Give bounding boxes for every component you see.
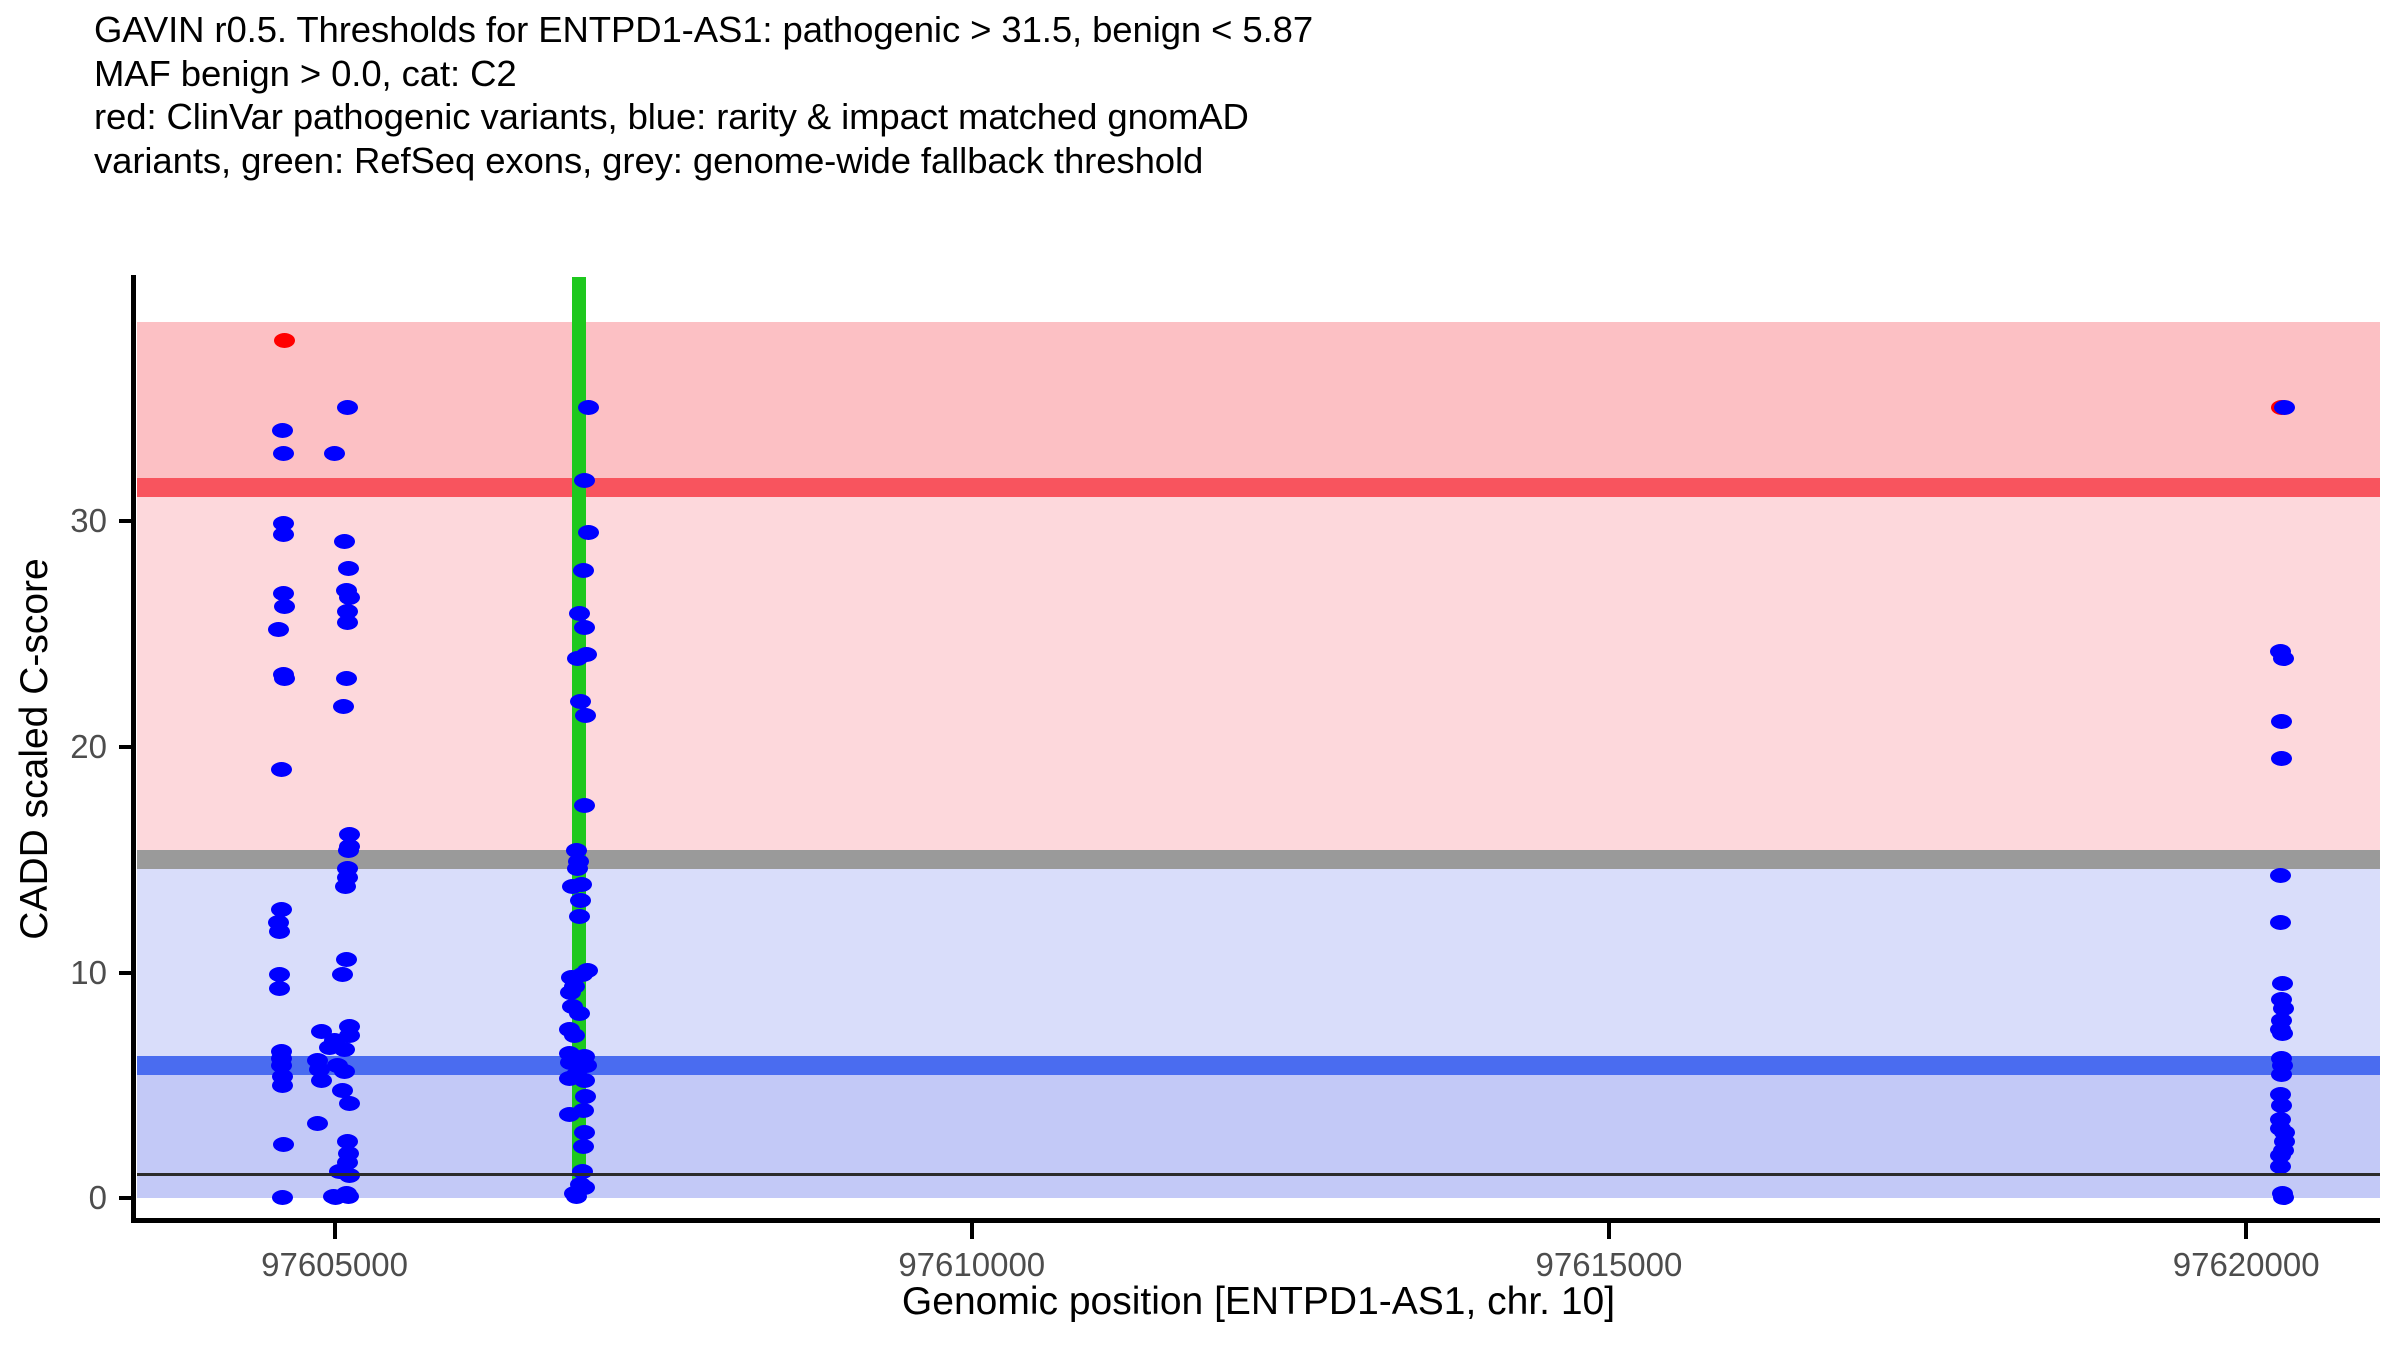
gnomad-variant-point	[569, 606, 590, 621]
gnomad-variant-point	[569, 1006, 590, 1021]
gnomad-variant-point	[576, 647, 597, 662]
x-tick-label: 97615000	[1459, 1248, 1759, 1281]
gnomad-variant-point	[268, 622, 289, 637]
x-tick-mark	[1607, 1223, 1611, 1239]
gnomad-variant-point	[2271, 1067, 2292, 1082]
gnomad-variant-point	[338, 1189, 359, 1204]
title-line-2: MAF benign > 0.0, cat: C2	[94, 52, 2344, 96]
x-tick-label: 97605000	[185, 1248, 485, 1281]
gnomad-variant-point	[569, 909, 590, 924]
gnomad-variant-point	[2273, 1190, 2294, 1205]
gnomad-variant-point	[2272, 1026, 2293, 1041]
plot-title: GAVIN r0.5. Thresholds for ENTPD1-AS1: p…	[94, 8, 2344, 182]
threshold-line-benign	[137, 1056, 2380, 1075]
x-axis-title: Genomic position [ENTPD1-AS1, chr. 10]	[137, 1279, 2380, 1325]
pathogenic-band	[137, 322, 2380, 487]
gnomad-variant-point	[2271, 751, 2292, 766]
gnomad-variant-point	[334, 534, 355, 549]
benign-upper-band	[137, 860, 2380, 1066]
intermediate-band	[137, 487, 2380, 860]
gnomad-variant-point	[272, 1078, 293, 1093]
y-axis-title: CADD scaled C-score	[12, 277, 58, 1221]
gnomad-variant-point	[338, 561, 359, 576]
gnomad-variant-point	[573, 1139, 594, 1154]
title-line-4: variants, green: RefSeq exons, grey: gen…	[94, 139, 2344, 183]
gnomad-variant-point	[567, 861, 588, 876]
x-axis-line	[131, 1218, 2380, 1223]
gnomad-variant-point	[273, 446, 294, 461]
panel-bottom-rule	[137, 1173, 2380, 1176]
gnomad-variant-point	[2270, 868, 2291, 883]
gnomad-variant-point	[272, 423, 293, 438]
gnomad-variant-point	[336, 952, 357, 967]
gnomad-variant-point	[272, 1190, 293, 1205]
y-axis-line	[131, 275, 136, 1223]
gnomad-variant-point	[2273, 651, 2294, 666]
x-tick-mark	[333, 1223, 337, 1239]
y-tick-mark	[119, 519, 135, 523]
threshold-line-pathogenic	[137, 478, 2380, 497]
x-tick-label: 97620000	[2096, 1248, 2396, 1281]
benign-lower-band	[137, 1066, 2380, 1199]
gnomad-variant-point	[333, 699, 354, 714]
gnomad-variant-point	[269, 981, 290, 996]
plot-panel	[137, 277, 2380, 1221]
gnomad-variant-point	[578, 525, 599, 540]
gnomad-variant-point	[273, 527, 294, 542]
x-tick-mark	[2244, 1223, 2248, 1239]
title-line-3: red: ClinVar pathogenic variants, blue: …	[94, 95, 2344, 139]
gnomad-variant-point	[334, 1042, 355, 1057]
gnomad-variant-point	[332, 967, 353, 982]
y-tick-mark	[119, 745, 135, 749]
gnomad-variant-point	[574, 1180, 595, 1195]
gnomad-variant-point	[574, 798, 595, 813]
plot-root: GAVIN r0.5. Thresholds for ENTPD1-AS1: p…	[0, 0, 2400, 1350]
gnomad-variant-point	[574, 473, 595, 488]
gnomad-variant-point	[575, 708, 596, 723]
gnomad-variant-point	[570, 694, 591, 709]
gnomad-variant-point	[273, 1137, 294, 1152]
y-tick-mark	[119, 971, 135, 975]
clinvar-pathogenic-point	[274, 333, 295, 348]
title-line-1: GAVIN r0.5. Thresholds for ENTPD1-AS1: p…	[94, 8, 2344, 52]
gnomad-variant-point	[573, 563, 594, 578]
gnomad-variant-point	[564, 1028, 585, 1043]
gnomad-variant-point	[271, 762, 292, 777]
x-tick-label: 97610000	[822, 1248, 1122, 1281]
gnomad-variant-point	[570, 893, 591, 908]
x-tick-mark	[970, 1223, 974, 1239]
gnomad-variant-point	[574, 620, 595, 635]
y-tick-mark	[119, 1196, 135, 1200]
gnomad-variant-point	[324, 446, 345, 461]
threshold-line-genome-wide-fallback	[137, 850, 2380, 869]
